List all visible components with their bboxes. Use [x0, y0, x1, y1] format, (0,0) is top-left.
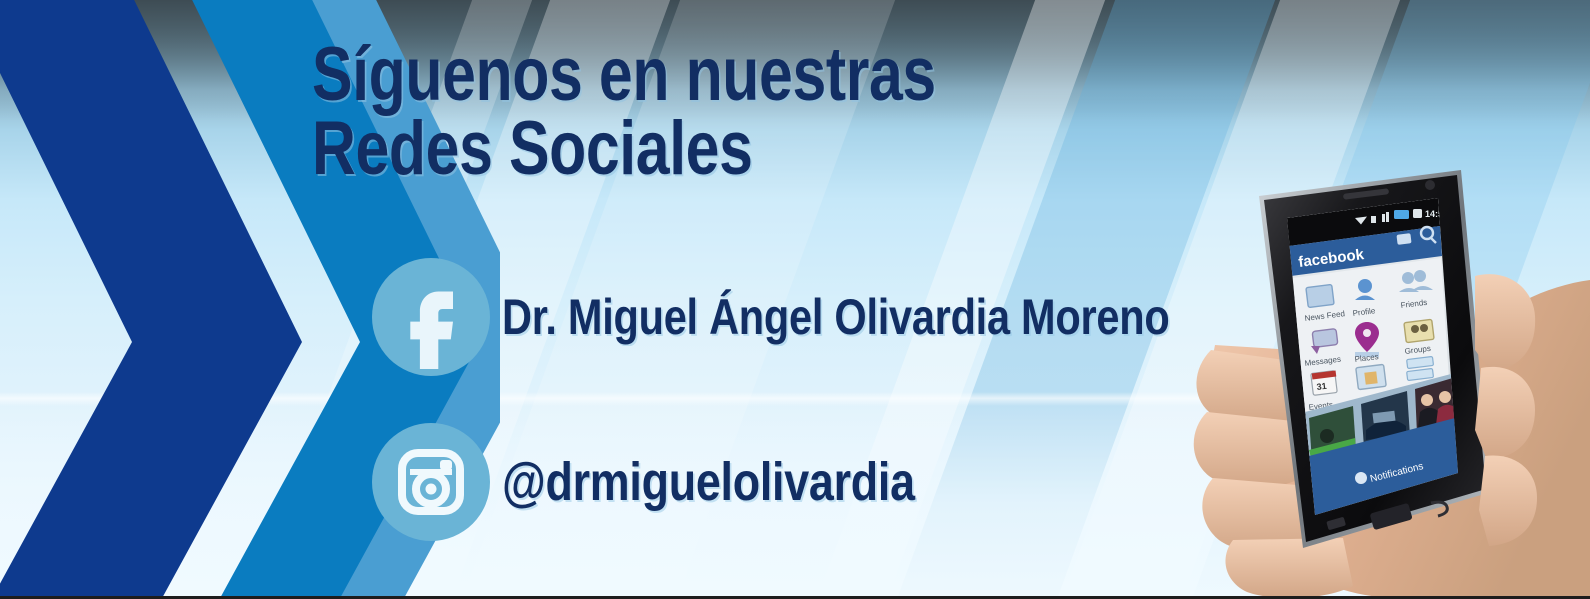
social-account-instagram[interactable]: @drmiguelolivardia — [372, 423, 999, 541]
mute-icon — [1371, 216, 1376, 223]
front-camera — [1425, 180, 1435, 190]
signal-icon — [1382, 214, 1385, 222]
facebook-icon[interactable] — [372, 258, 490, 376]
page-title: Síguenos en nuestras Redes Sociales — [312, 38, 1032, 185]
social-media-banner: Síguenos en nuestras Redes Sociales Dr. … — [0, 0, 1590, 599]
messages-icon — [1396, 233, 1411, 245]
app-tile-groups: Groups — [1404, 319, 1434, 356]
headline-line-2: Redes Sociales — [312, 112, 1032, 186]
battery-icon — [1394, 210, 1409, 219]
headline-line-1: Síguenos en nuestras — [312, 32, 936, 117]
hand-holding-phone-photo: 14:50 facebook News Feed Profile — [1175, 100, 1590, 599]
social-account-facebook[interactable]: Dr. Miguel Ángel Olivardia Moreno — [372, 258, 1306, 376]
finger — [1194, 412, 1303, 488]
notifications-globe-icon — [1355, 472, 1367, 484]
signal-icon — [1386, 212, 1389, 222]
alarm-icon — [1413, 209, 1422, 218]
instagram-icon[interactable] — [372, 423, 490, 541]
svg-text:31: 31 — [1316, 381, 1327, 392]
thumb — [1225, 538, 1353, 598]
instagram-handle: @drmiguelolivardia — [502, 455, 915, 509]
facebook-account-name: Dr. Miguel Ángel Olivardia Moreno — [502, 292, 1169, 342]
